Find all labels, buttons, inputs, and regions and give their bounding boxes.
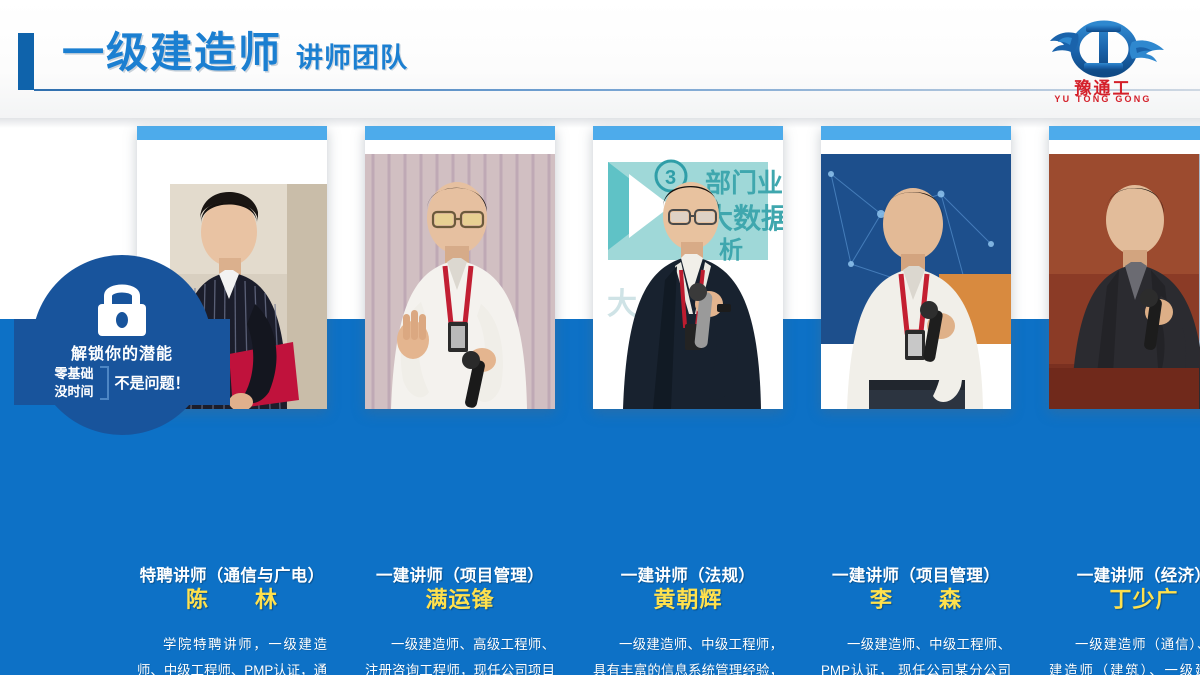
card-top-bar	[365, 126, 555, 140]
lock-icon	[92, 280, 152, 336]
header-divider	[34, 89, 1200, 91]
badge-subline: 零基础 没时间 不是问题！	[14, 365, 230, 400]
card-name: 满运锋	[359, 587, 561, 613]
instructor-card-2[interactable]: 一建讲师（项目管理） 满运锋 一级建造师、高级工程师、注册咨询工程师，现任公司项…	[365, 126, 555, 409]
instructor-photo-3: 3 部门业 大数据 析 大	[593, 154, 783, 409]
page-title-sub: 讲师团队	[296, 45, 408, 72]
badge-headline: 解锁你的潜能	[14, 340, 230, 364]
badge-sub-left: 零基础 没时间	[54, 365, 93, 400]
instructor-photo-2	[365, 154, 555, 409]
instructor-card-5[interactable]: 一建讲师（经济） 丁少广 一级建造师（通信）、一级建造师（建筑）、一级建造师（市…	[1049, 126, 1200, 409]
svg-text:析: 析	[719, 236, 743, 264]
page-title-main: 一级建造师	[62, 32, 282, 74]
card-title: 特聘讲师（通信与广电）	[131, 566, 333, 587]
page-title: 一级建造师 讲师团队	[62, 32, 408, 74]
svg-text:大: 大	[607, 287, 637, 322]
card-bio: 一级建造师、中级工程师，具有丰富的信息系统管理经验，为人严谨，授课风格易于接受，…	[593, 632, 783, 675]
card-top-bar	[821, 126, 1011, 140]
dragon-circle-icon	[1028, 12, 1178, 78]
logo-name-en: YU TONG GONG	[1028, 94, 1178, 104]
header-accent-bar	[18, 33, 34, 90]
card-name: 李 森	[815, 587, 1017, 613]
card-bio: 一级建造师（通信）、一级建造师（建筑）、一级建造师（市政）、中级工程师，在一建考…	[1049, 632, 1200, 675]
instructor-photo-5	[1049, 154, 1200, 409]
badge-brace	[100, 366, 109, 400]
promo-badge[interactable]: 解锁你的潜能 零基础 没时间 不是问题！	[14, 255, 230, 405]
card-top-bar	[593, 126, 783, 140]
card-bio: 一级建造师、中级工程师、 PMP认证， 现任公司某分公司总经理，15年的通信无线…	[821, 632, 1011, 675]
card-name: 丁少广	[1043, 587, 1200, 613]
svg-text:部门业: 部门业	[705, 169, 783, 199]
badge-sub-left-line2: 没时间	[54, 383, 93, 401]
header-shadow	[0, 118, 1200, 128]
badge-sub-right: 不是问题！	[115, 372, 190, 393]
instructor-photo-4	[821, 154, 1011, 409]
card-name: 陈 林	[131, 587, 333, 613]
instructor-card-3[interactable]: 3 部门业 大数据 析 大	[593, 126, 783, 409]
card-top-bar	[1049, 126, 1200, 140]
card-name: 黄朝辉	[587, 587, 789, 613]
card-bio: 一级建造师、高级工程师、注册咨询工程师，现任公司项目管理部副主任，近20年工程管…	[365, 632, 555, 675]
instructor-card-4[interactable]: 一建讲师（项目管理） 李 森 一级建造师、中级工程师、 PMP认证， 现任公司某…	[821, 126, 1011, 409]
card-title: 一建讲师（项目管理）	[359, 566, 561, 587]
card-title: 一建讲师（经济）	[1043, 566, 1200, 587]
card-top-bar	[137, 126, 327, 140]
card-bio: 学院特聘讲师，一级建造师、中级工程师、PMP认证，通信专业领域经验丰富；编制有《…	[137, 632, 327, 675]
company-logo: 豫通工 YU TONG GONG	[1028, 12, 1178, 107]
badge-sub-left-line1: 零基础	[54, 365, 93, 383]
svg-text:3: 3	[665, 167, 676, 189]
card-title: 一建讲师（法规）	[587, 566, 789, 587]
page-header: 一级建造师 讲师团队	[0, 0, 1200, 118]
card-title: 一建讲师（项目管理）	[815, 566, 1017, 587]
